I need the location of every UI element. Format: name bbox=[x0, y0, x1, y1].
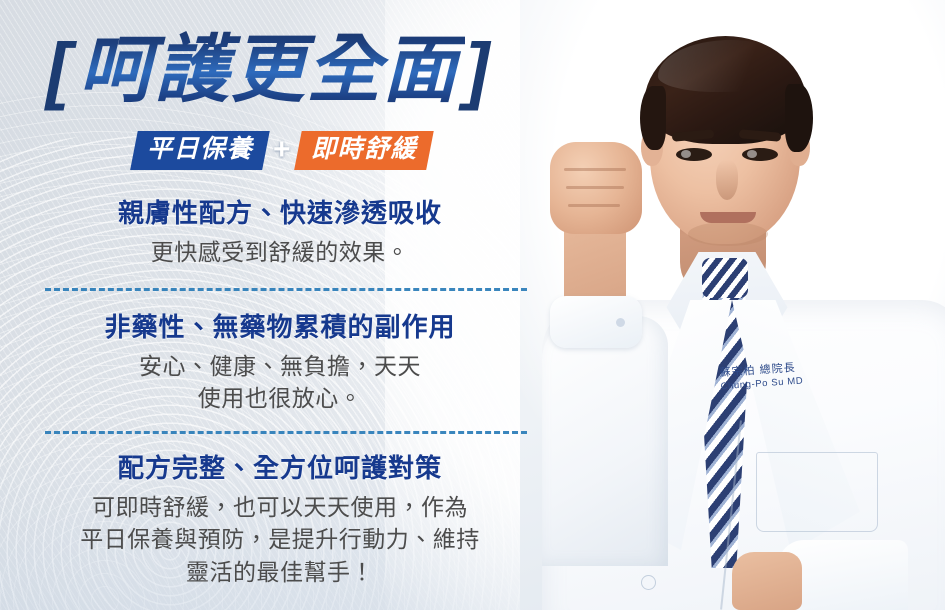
benefit-block-3: 配方完整、全方位呵護對策 可即時舒緩，也可以天天使用，作為 平日保養與預防，是提… bbox=[0, 452, 618, 589]
benefit-1-body: 更快感受到舒緩的效果。 bbox=[0, 236, 560, 269]
eye-highlight-left bbox=[681, 150, 691, 158]
knuckle-line-2 bbox=[566, 186, 624, 189]
coat-pocket bbox=[756, 452, 878, 532]
benefit-3-title: 配方完整、全方位呵護對策 bbox=[0, 452, 560, 486]
chin-shadow bbox=[688, 222, 768, 246]
hair-side-right bbox=[785, 84, 813, 152]
coat-button-lower bbox=[642, 576, 655, 589]
hair-side-left bbox=[640, 86, 666, 150]
knuckle-line-1 bbox=[564, 168, 626, 171]
badge-instant-relief: 即時舒緩 bbox=[294, 131, 433, 170]
benefit-block-2: 非藥性、無藥物累積的副作用 安心、健康、無負擔，天天 使用也很放心。 bbox=[0, 311, 618, 415]
divider-1 bbox=[45, 288, 527, 291]
divider-2 bbox=[45, 431, 527, 434]
bracket-left: [ bbox=[46, 22, 73, 118]
promo-banner: 蘇宗柏 總院長 Chung-Po Su MD [呵護更全面] 平日保養 + 即時… bbox=[0, 0, 945, 610]
badge-daily-care-label: 平日保養 bbox=[147, 135, 253, 165]
benefit-block-1: 親膚性配方、快速滲透吸收 更快感受到舒緩的效果。 bbox=[0, 197, 618, 268]
badge-daily-care: 平日保養 bbox=[130, 131, 269, 170]
eye-highlight-right bbox=[747, 150, 757, 158]
bracket-right: ] bbox=[465, 22, 492, 118]
plus-separator: + bbox=[273, 135, 291, 165]
headline-text: 呵護更全面 bbox=[73, 22, 465, 118]
benefit-1-title: 親膚性配方、快速滲透吸收 bbox=[0, 197, 560, 231]
benefit-2-title: 非藥性、無藥物累積的副作用 bbox=[0, 311, 560, 345]
nose bbox=[716, 160, 738, 200]
content-column: [呵護更全面] 平日保養 + 即時舒緩 親膚性配方、快速滲透吸收 更快感受到舒緩… bbox=[0, 0, 560, 610]
page-title: [呵護更全面] bbox=[46, 22, 546, 118]
tie-knot bbox=[702, 258, 748, 298]
mouth bbox=[700, 212, 756, 223]
badge-row: 平日保養 + 即時舒緩 bbox=[134, 131, 430, 170]
badge-instant-relief-label: 即時舒緩 bbox=[311, 135, 417, 165]
benefit-3-body: 可即時舒緩，也可以天天使用，作為 平日保養與預防，是提升行動力、維持 靈活的最佳… bbox=[0, 491, 560, 589]
benefit-2-body: 安心、健康、無負擔，天天 使用也很放心。 bbox=[0, 350, 560, 415]
hand-in-pocket bbox=[732, 552, 802, 610]
